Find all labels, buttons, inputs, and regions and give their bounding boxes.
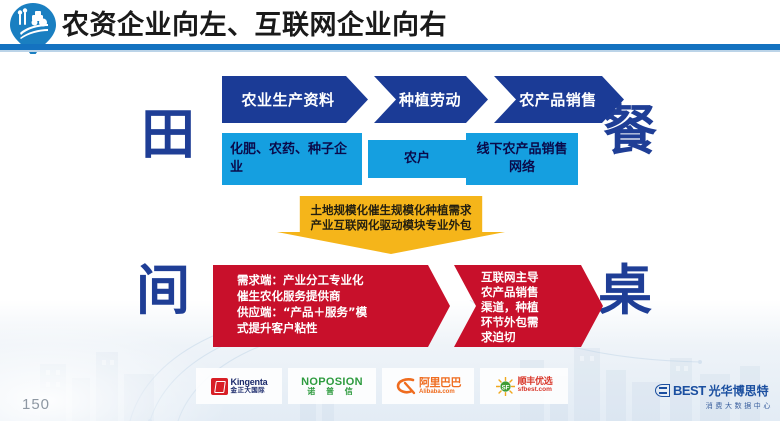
header-rule-light: [0, 50, 780, 52]
slide: 农资企业向左、互联网企业向右 田 餐 间 桌 农业生产资料 种植劳动 农产品销售…: [0, 0, 780, 421]
process-chevron-2-label: 种植劳动: [399, 89, 461, 110]
sfbest-sunburst-icon: SF: [496, 377, 515, 396]
conclusion-right-line-4: 环节外包需: [481, 315, 585, 330]
noposion-name-cn: 诺 普 信: [301, 388, 363, 397]
svg-text:SF: SF: [501, 384, 509, 391]
conclusion-left-line-1: 需求端：产业分工专业化: [237, 272, 427, 288]
page-number: 150: [22, 396, 50, 413]
company-logo-strip: Kingenta 金正大国际 NOPOSION 诺 普 信 阿里巴巴 Aliba…: [196, 368, 536, 404]
best-logo-icon: [655, 384, 670, 397]
brand-name-cn: 光华博思特: [709, 382, 769, 399]
actor-box-3-label: 线下农产品销售网络: [472, 141, 572, 177]
conclusion-left-text: 需求端：产业分工专业化 催生农化服务提供商 供应端：“产品＋服务”模 式提升客户…: [237, 272, 427, 336]
conclusion-right-line-3: 渠道，种植: [481, 300, 585, 315]
conclusion-left-line-2: 催生农化服务提供商: [237, 288, 427, 304]
conclusion-right-line-2: 农产品销售: [481, 285, 585, 300]
brand-subtitle: 消费大数据中心: [655, 401, 773, 411]
process-chevron-1-label: 农业生产资料: [241, 89, 334, 110]
process-chevron-row: 农业生产资料 种植劳动 农产品销售: [222, 76, 582, 123]
slide-header: 农资企业向左、互联网企业向右: [0, 0, 780, 56]
process-chevron-3-label: 农产品销售: [519, 89, 597, 110]
callout-line-1: 土地规模化催生规模化种植需求: [277, 203, 505, 218]
kingenta-name-cn: 金正大国际: [231, 387, 268, 394]
alibaba-mark-icon: [395, 377, 417, 395]
brand-mark: BEST: [673, 383, 706, 398]
alibaba-name-en: Alibaba.com: [419, 389, 461, 395]
page-title: 农资企业向左、互联网企业向右: [62, 4, 447, 46]
actor-box-1[interactable]: 化肥、农药、种子企业: [222, 133, 362, 185]
actor-box-1-label: 化肥、农药、种子企业: [230, 141, 354, 177]
conclusion-right-line-5: 求迫切: [481, 330, 585, 345]
actor-box-2[interactable]: 农户: [368, 140, 466, 178]
sfbest-name-en: sfbest.com: [518, 387, 553, 394]
process-chevron-1[interactable]: 农业生产资料: [222, 76, 368, 123]
logo-alibaba: 阿里巴巴 Alibaba.com: [382, 368, 474, 404]
alibaba-name-cn: 阿里巴巴: [419, 377, 461, 389]
process-chevron-3[interactable]: 农产品销售: [494, 76, 624, 123]
conclusion-row: 需求端：产业分工专业化 催生农化服务提供商 供应端：“产品＋服务”模 式提升客户…: [213, 265, 603, 347]
logo-kingenta: Kingenta 金正大国际: [196, 368, 282, 404]
conclusion-left-line-4: 式提升客户粘性: [237, 320, 427, 336]
process-chevron-2[interactable]: 种植劳动: [374, 76, 488, 123]
logo-noposion: NOPOSION 诺 普 信: [288, 368, 376, 404]
noposion-name-en: NOPOSION: [301, 376, 363, 388]
conclusion-right-line-1: 互联网主导: [481, 270, 585, 285]
corner-glyph-bottom-right: 桌: [598, 264, 652, 318]
callout-line-2: 产业互联网化驱动模块专业外包: [277, 218, 505, 233]
callout-text: 土地规模化催生规模化种植需求 产业互联网化驱动模块专业外包: [277, 203, 505, 233]
conclusion-right-text: 互联网主导 农产品销售 渠道，种植 环节外包需 求迫切: [481, 270, 585, 345]
actor-box-2-label: 农户: [404, 150, 430, 168]
footer-brand: BEST 光华博思特 消费大数据中心: [655, 382, 773, 414]
corner-glyph-top-left: 田: [141, 108, 195, 162]
conclusion-left-line-3: 供应端：“产品＋服务”模: [237, 304, 427, 320]
logo-sfbest: SF 顺丰优选 sfbest.com: [480, 368, 568, 404]
corner-glyph-bottom-left: 间: [136, 264, 190, 318]
kingenta-mark-icon: [211, 378, 228, 395]
actor-box-3[interactable]: 线下农产品销售网络: [466, 133, 578, 185]
